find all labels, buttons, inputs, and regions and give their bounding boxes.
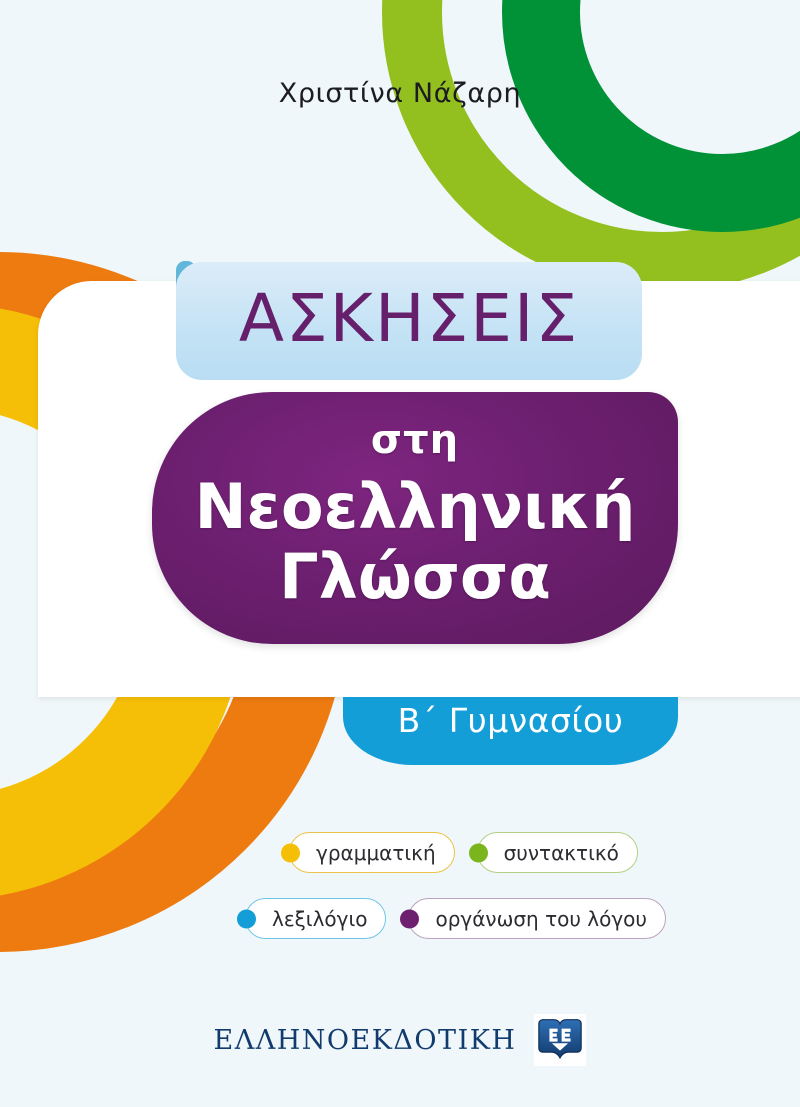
topic-dot-icon	[237, 909, 256, 928]
askiseis-banner: ΑΣΚΗΣΕΙΣ	[176, 262, 642, 380]
main-title-panel: στη Νεοελληνική Γλώσσα	[152, 392, 678, 644]
author-name: Χριστίνα Νάζαρη	[0, 78, 800, 109]
topic-tag-label: οργάνωση του λόγου	[435, 907, 647, 931]
book-cover: Χριστίνα Νάζαρη ΑΣΚΗΣΕΙΣ στη Νεοελληνική…	[0, 0, 800, 1107]
topic-dot-icon	[400, 909, 419, 928]
publisher-name: ΕΛΛΗΝΟΕΚΔΟΤΙΚΗ	[214, 1025, 517, 1056]
topic-dot-icon	[281, 843, 300, 862]
topic-tag-label: συντακτικό	[504, 841, 619, 865]
topic-tag-grammar: γραμματική	[289, 832, 455, 873]
title-line-2: Γλώσσα	[152, 546, 678, 608]
publisher-block: ΕΛΛΗΝΟΕΚΔΟΤΙΚΗ	[0, 1014, 800, 1066]
grade-label: Β΄ Γυμνασίου	[398, 701, 624, 740]
topic-tag-row-2: λεξιλόγιο οργάνωση του λόγου	[245, 898, 666, 939]
grade-badge: Β΄ Γυμνασίου	[343, 697, 678, 765]
open-book-logo-icon	[534, 1014, 586, 1066]
title-line-1: Νεοελληνική	[152, 476, 678, 538]
subtitle-sti: στη	[152, 420, 678, 460]
topic-tag-row-1: γραμματική συντακτικό	[289, 832, 638, 873]
topic-tag-label: λεξιλόγιο	[272, 907, 367, 931]
topic-tag-vocabulary: λεξιλόγιο	[245, 898, 386, 939]
topic-dot-icon	[469, 843, 488, 862]
topic-tag-syntax: συντακτικό	[477, 832, 638, 873]
topic-tag-label: γραμματική	[316, 841, 436, 865]
askiseis-label: ΑΣΚΗΣΕΙΣ	[239, 286, 579, 356]
topic-tag-discourse: οργάνωση του λόγου	[408, 898, 666, 939]
